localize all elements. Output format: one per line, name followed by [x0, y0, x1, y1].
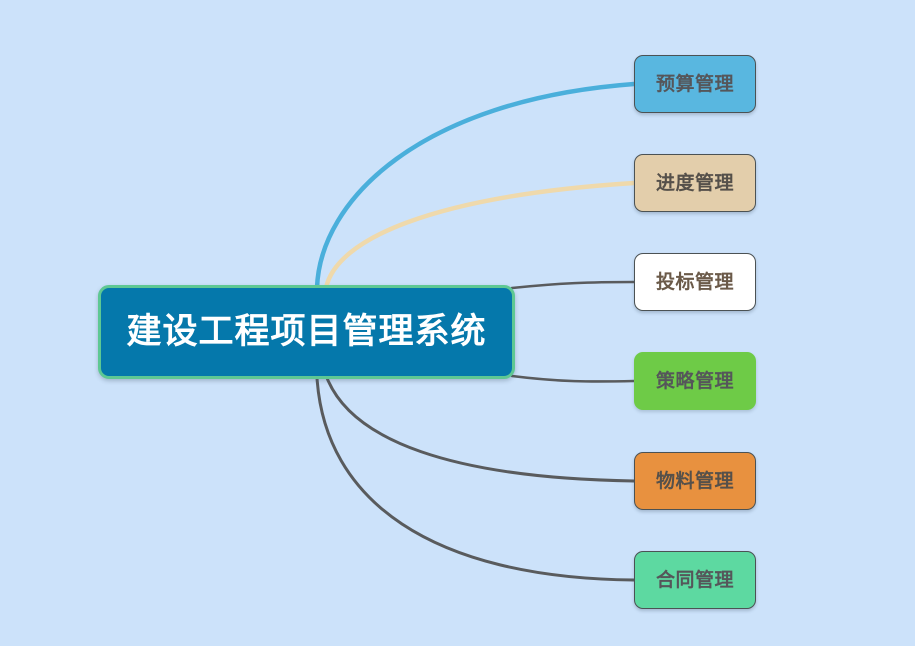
child-node-progress[interactable]: 进度管理 — [634, 154, 756, 212]
child-node-contract[interactable]: 合同管理 — [634, 551, 756, 609]
connector-to-progress — [326, 183, 634, 288]
child-node-progress-label: 进度管理 — [656, 174, 734, 193]
child-node-material[interactable]: 物料管理 — [634, 452, 756, 510]
child-node-strategy[interactable]: 策略管理 — [634, 352, 756, 410]
child-node-budget[interactable]: 预算管理 — [634, 55, 756, 113]
connector-to-bidding — [512, 282, 634, 288]
child-node-budget-label: 预算管理 — [656, 75, 734, 94]
root-node[interactable]: 建设工程项目管理系统 — [98, 285, 515, 379]
child-node-material-label: 物料管理 — [656, 472, 734, 491]
child-node-bidding[interactable]: 投标管理 — [634, 253, 756, 311]
connector-to-material — [327, 378, 634, 481]
child-node-bidding-label: 投标管理 — [656, 273, 734, 292]
mindmap-canvas: 建设工程项目管理系统 预算管理 进度管理 投标管理 策略管理 物料管理 合同管理 — [0, 0, 915, 646]
child-node-contract-label: 合同管理 — [656, 571, 734, 590]
connector-to-strategy — [512, 376, 634, 381]
root-node-label: 建设工程项目管理系统 — [126, 315, 486, 350]
child-node-strategy-label: 策略管理 — [656, 372, 734, 391]
